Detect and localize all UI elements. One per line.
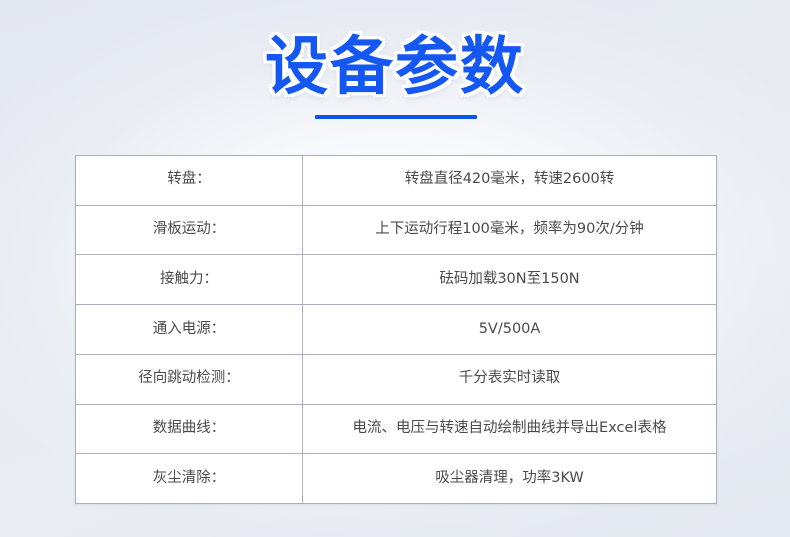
table-row: 通入电源： 5V/500A xyxy=(76,305,717,355)
spec-label-cell: 数据曲线： xyxy=(76,404,303,454)
page-title: 设备参数 xyxy=(0,27,790,105)
spec-value-cell: 砝码加载30N至150N xyxy=(303,255,717,305)
spec-label-cell: 滑板运动： xyxy=(76,205,303,255)
table-row: 灰尘清除： 吸尘器清理，功率3KW xyxy=(76,454,717,504)
spec-parameters-page: 设备参数 转盘： 转盘直径420毫米，转速2600转 滑板运动： 上下运动行程1… xyxy=(0,0,790,537)
spec-label-cell: 接触力： xyxy=(76,255,303,305)
table-row: 径向跳动检测： 千分表实时读取 xyxy=(76,354,717,404)
spec-value-cell: 5V/500A xyxy=(303,305,717,355)
spec-parameters-table: 转盘： 转盘直径420毫米，转速2600转 滑板运动： 上下运动行程100毫米，… xyxy=(75,155,717,504)
table-row: 滑板运动： 上下运动行程100毫米，频率为90次/分钟 xyxy=(76,205,717,255)
spec-value-cell: 转盘直径420毫米，转速2600转 xyxy=(303,156,717,206)
spec-label-cell: 灰尘清除： xyxy=(76,454,303,504)
spec-value-cell: 电流、电压与转速自动绘制曲线并导出Excel表格 xyxy=(303,404,717,454)
spec-value-cell: 千分表实时读取 xyxy=(303,354,717,404)
spec-value-cell: 上下运动行程100毫米，频率为90次/分钟 xyxy=(303,205,717,255)
table-row: 转盘： 转盘直径420毫米，转速2600转 xyxy=(76,156,717,206)
spec-label-cell: 转盘： xyxy=(76,156,303,206)
spec-table-body: 转盘： 转盘直径420毫米，转速2600转 滑板运动： 上下运动行程100毫米，… xyxy=(76,156,717,504)
title-underline-rule xyxy=(315,115,477,119)
page-header: 设备参数 xyxy=(0,0,790,150)
spec-label-cell: 径向跳动检测： xyxy=(76,354,303,404)
spec-label-cell: 通入电源： xyxy=(76,305,303,355)
spec-value-cell: 吸尘器清理，功率3KW xyxy=(303,454,717,504)
table-row: 接触力： 砝码加载30N至150N xyxy=(76,255,717,305)
table-row: 数据曲线： 电流、电压与转速自动绘制曲线并导出Excel表格 xyxy=(76,404,717,454)
